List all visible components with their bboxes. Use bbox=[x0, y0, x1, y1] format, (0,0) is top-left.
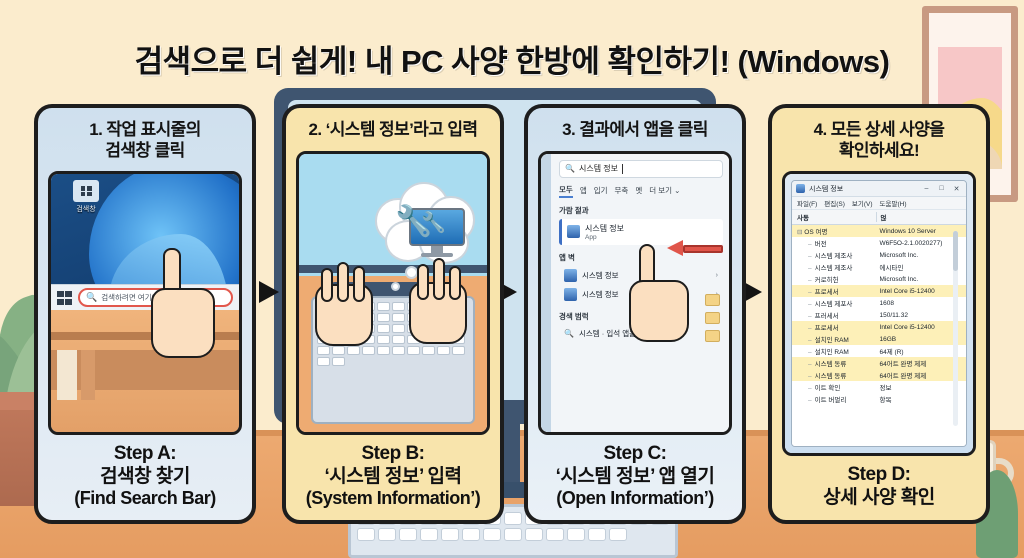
search-panel-sidebar bbox=[541, 154, 551, 432]
row-name: 프로세서 bbox=[792, 322, 876, 332]
panel-d-heading-line1: 4. 모든 상세 사양을 bbox=[780, 120, 978, 141]
tab-all[interactable]: 모두 bbox=[559, 184, 573, 198]
menu-view[interactable]: 보기(V) bbox=[852, 198, 873, 208]
panel-d-caption: Step D: 상세 사양 확인 bbox=[772, 456, 986, 520]
row-name: 시스템 동류 bbox=[792, 370, 876, 380]
panel-c-step-label: Step C: bbox=[532, 443, 738, 466]
flow-arrow-1-icon bbox=[259, 281, 279, 303]
desktop-file-icons bbox=[705, 294, 727, 348]
panel-c-caption-ko: ‘시스템 정보’ 앱 열기 bbox=[532, 466, 738, 489]
menu-help[interactable]: 도움말(H) bbox=[880, 198, 907, 208]
windows-search-panel: 🔍 시스템 정보 모두 앱 입기 무축 몟 더 보기 ⌄ 가람 젙과 시스템 정 bbox=[541, 154, 729, 432]
panel-b-step-label: Step B: bbox=[290, 443, 496, 466]
tab-more[interactable]: 더 보기 ⌄ bbox=[649, 185, 680, 196]
panel-c-heading: 3. 결과에서 앱을 클릭 bbox=[528, 108, 742, 147]
search-icon: 🔍 bbox=[86, 292, 97, 303]
clicking-hand-icon bbox=[629, 250, 695, 342]
row-name: 프로세서 bbox=[792, 286, 876, 296]
table-row[interactable]: 프로세서 Intel Core i5-12400 bbox=[792, 285, 966, 297]
file-icon bbox=[705, 294, 720, 306]
row-name: 시스템 동류 bbox=[792, 358, 876, 368]
row-name: 시스템 제조사 bbox=[792, 262, 876, 272]
table-row[interactable]: 버전 W6F5O-2.1.0020277) bbox=[792, 237, 966, 249]
panel-d-heading: 4. 모든 상세 사양을 확인하세요! bbox=[772, 108, 986, 167]
table-row[interactable]: 이트 버멀리 항목 bbox=[792, 393, 966, 405]
menu-file[interactable]: 파일(F) bbox=[797, 198, 817, 208]
table-row[interactable]: 설치인 RAM 16GB bbox=[792, 333, 966, 345]
table-row[interactable]: 시스템 동류 64어트 완명 제제 bbox=[792, 369, 966, 381]
panel-b-heading: 2. ‘시스템 정보’라고 입력 bbox=[286, 108, 500, 147]
panel-a-caption-en: (Find Search Bar) bbox=[42, 488, 248, 510]
book-icon bbox=[57, 350, 77, 400]
tab-web[interactable]: 무축 bbox=[615, 185, 629, 196]
row-name: 설치인 RAM bbox=[792, 334, 876, 344]
thought-bubble: 🔧 🔧 bbox=[369, 180, 479, 266]
wrench-icon: 🔧 bbox=[421, 210, 446, 235]
step-panel-b[interactable]: 2. ‘시스템 정보’라고 입력 🔧 🔧 bbox=[282, 104, 504, 524]
best-match-title: 시스템 정보 bbox=[585, 223, 624, 234]
table-row[interactable]: 시스템 제포사 1608 bbox=[792, 297, 966, 309]
table-row[interactable]: 프로세서 Intel Core i5-12400 bbox=[792, 321, 966, 333]
panel-a-heading-line1: 1. 작업 표시줄의 bbox=[46, 120, 244, 141]
window-titlebar[interactable]: 시스템 정보 – □ ✕ bbox=[792, 181, 966, 197]
search-icon: 🔍 bbox=[564, 329, 574, 338]
table-row[interactable]: 설치인 RAM 64제 (R) bbox=[792, 345, 966, 357]
panel-b-caption-en: (System Information’) bbox=[290, 488, 496, 510]
thought-bubble-dot bbox=[391, 282, 400, 291]
text-caret bbox=[622, 164, 623, 174]
panel-a-heading-line2: 검색창 클릭 bbox=[46, 141, 244, 162]
panel-a-heading: 1. 작업 표시줄의 검색창 클릭 bbox=[38, 108, 252, 167]
window-scrollbar[interactable] bbox=[953, 231, 958, 426]
book-icon bbox=[81, 350, 95, 400]
table-row[interactable]: 시스템 동류 64어트 완명 제제 bbox=[792, 357, 966, 369]
minimize-icon[interactable]: – bbox=[921, 185, 932, 192]
panel-a-screenshot: 검색창 🔍 검색하려면 여기에 입력하십시오 bbox=[48, 171, 242, 434]
file-icon bbox=[705, 312, 720, 324]
window-title: 시스템 정보 bbox=[809, 184, 917, 194]
system-info-icon bbox=[567, 225, 580, 238]
search-filter-tabs[interactable]: 모두 앱 입기 무축 몟 더 보기 ⌄ bbox=[559, 184, 723, 198]
table-row[interactable]: 이트 확인 정보 bbox=[792, 381, 966, 393]
step-panel-d[interactable]: 4. 모든 상세 사양을 확인하세요! 시스템 정보 – □ ✕ 파일(F) 편… bbox=[768, 104, 990, 524]
windows-start-icon[interactable] bbox=[57, 291, 72, 305]
row-name: OS 여명 bbox=[792, 226, 876, 236]
row-name: 시스템 제조사 bbox=[792, 250, 876, 260]
desktop-icon-label: 검색창 bbox=[71, 204, 101, 214]
panel-b-heading-line1: 2. ‘시스템 정보’라고 입력 bbox=[294, 120, 492, 141]
file-icon bbox=[705, 330, 720, 342]
column-header-item: 사동 bbox=[792, 212, 876, 222]
panel-d-screenshot: 시스템 정보 – □ ✕ 파일(F) 편집(S) 보기(V) 도움말(H) 사동… bbox=[782, 171, 976, 456]
table-row[interactable]: 시스템 제조사 Microsoft Inc. bbox=[792, 249, 966, 261]
panel-c-heading-line1: 3. 결과에서 앱을 클릭 bbox=[536, 120, 734, 141]
row-name: 시스템 제포사 bbox=[792, 298, 876, 308]
panel-b-caption: Step B: ‘시스템 정보’ 입력 (System Information’… bbox=[286, 435, 500, 520]
table-row[interactable]: 프러세서 150/11.32 bbox=[792, 309, 966, 321]
page-title: 검색으로 더 쉽게! 내 PC 사양 한방에 확인하기! (Windows) bbox=[0, 36, 1024, 81]
maximize-icon[interactable]: □ bbox=[936, 185, 947, 192]
panel-b-screenshot: 🔧 🔧 bbox=[296, 151, 490, 435]
panel-d-caption-ko: 상세 사양 확인 bbox=[776, 487, 982, 510]
typing-hand-left-icon bbox=[315, 264, 377, 344]
search-query-input[interactable]: 🔍 시스템 정보 bbox=[559, 160, 723, 178]
panel-c-screenshot: 🔍 시스템 정보 모두 앱 입기 무축 몟 더 보기 ⌄ 가람 젙과 시스템 정 bbox=[538, 151, 732, 435]
shelf-body bbox=[51, 350, 239, 390]
table-header: 사동 얺 bbox=[792, 210, 966, 225]
chevron-right-icon[interactable]: › bbox=[716, 272, 718, 279]
row-name: 버전 bbox=[792, 238, 876, 248]
tab-settings[interactable]: 몟 bbox=[635, 185, 642, 196]
step-panel-a[interactable]: 1. 작업 표시줄의 검색창 클릭 검색창 🔍 검색하려면 여기에 입력하십시 bbox=[34, 104, 256, 524]
panel-b-caption-ko: ‘시스템 정보’ 입력 bbox=[290, 466, 496, 489]
panel-a-caption: Step A: 검색창 찾기 (Find Search Bar) bbox=[38, 435, 252, 520]
table-row[interactable]: 커로히헌 Microsoft Inc. bbox=[792, 273, 966, 285]
system-info-icon bbox=[796, 184, 805, 193]
panel-a-step-label: Step A: bbox=[42, 443, 248, 466]
search-query-text: 시스템 정보 bbox=[579, 163, 618, 174]
row-name: 이트 버멀리 bbox=[792, 394, 876, 404]
system-information-window[interactable]: 시스템 정보 – □ ✕ 파일(F) 편집(S) 보기(V) 도움말(H) 사동… bbox=[791, 180, 967, 447]
panel-d-heading-line2: 확인하세요! bbox=[780, 141, 978, 162]
section-best-match-label: 가람 젙과 bbox=[559, 205, 723, 216]
menu-edit[interactable]: 편집(S) bbox=[824, 198, 845, 208]
column-header-value: 얺 bbox=[876, 212, 966, 222]
folder-icon bbox=[73, 180, 99, 202]
panel-a-caption-ko: 검색창 찾기 bbox=[42, 466, 248, 489]
system-info-table[interactable]: OS 여명 Windows 10 Server 버전 W6F5O-2.1.002… bbox=[792, 225, 966, 446]
monitor-base-icon bbox=[421, 253, 453, 257]
best-match-subtitle: App bbox=[585, 234, 624, 241]
row-name: 설치인 RAM bbox=[792, 346, 876, 356]
panel-c-caption: Step C: ‘시스템 정보’ 앱 열기 (Open Information’… bbox=[528, 435, 742, 520]
panel-d-step-label: Step D: bbox=[776, 464, 982, 487]
desktop-icon[interactable]: 검색창 bbox=[71, 180, 101, 214]
row-name: 이트 확인 bbox=[792, 382, 876, 392]
typing-hand-right-icon bbox=[409, 262, 471, 342]
row-name: 커로히헌 bbox=[792, 274, 876, 284]
step-panel-c[interactable]: 3. 결과에서 앱을 클릭 🔍 시스템 정보 모두 앱 입기 무축 몟 더 보기… bbox=[524, 104, 746, 524]
window-menubar[interactable]: 파일(F) 편집(S) 보기(V) 도움말(H) bbox=[792, 197, 966, 210]
tab-apps[interactable]: 앱 bbox=[580, 185, 587, 196]
table-row[interactable]: OS 여명 Windows 10 Server bbox=[792, 225, 966, 237]
row-name: 프러세서 bbox=[792, 310, 876, 320]
panel-c-caption-en: (Open Information’) bbox=[532, 488, 738, 510]
pointing-hand-icon bbox=[147, 260, 219, 356]
table-row[interactable]: 시스템 제조사 에시타인 bbox=[792, 261, 966, 273]
system-info-icon bbox=[564, 288, 577, 301]
close-icon[interactable]: ✕ bbox=[951, 185, 962, 193]
system-info-icon bbox=[564, 269, 577, 282]
tab-documents[interactable]: 입기 bbox=[594, 185, 608, 196]
search-icon: 🔍 bbox=[565, 164, 575, 173]
